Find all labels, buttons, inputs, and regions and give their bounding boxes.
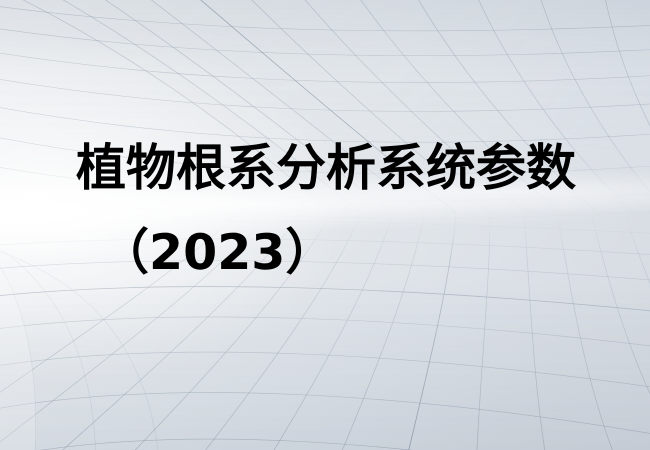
title-slide: 植物根系分析系统参数 （2023）: [0, 0, 650, 450]
page-title-line-1: 植物根系分析系统参数: [76, 143, 576, 193]
title-block: 植物根系分析系统参数 （2023）: [0, 0, 650, 450]
page-title-year: （2023）: [100, 228, 334, 277]
